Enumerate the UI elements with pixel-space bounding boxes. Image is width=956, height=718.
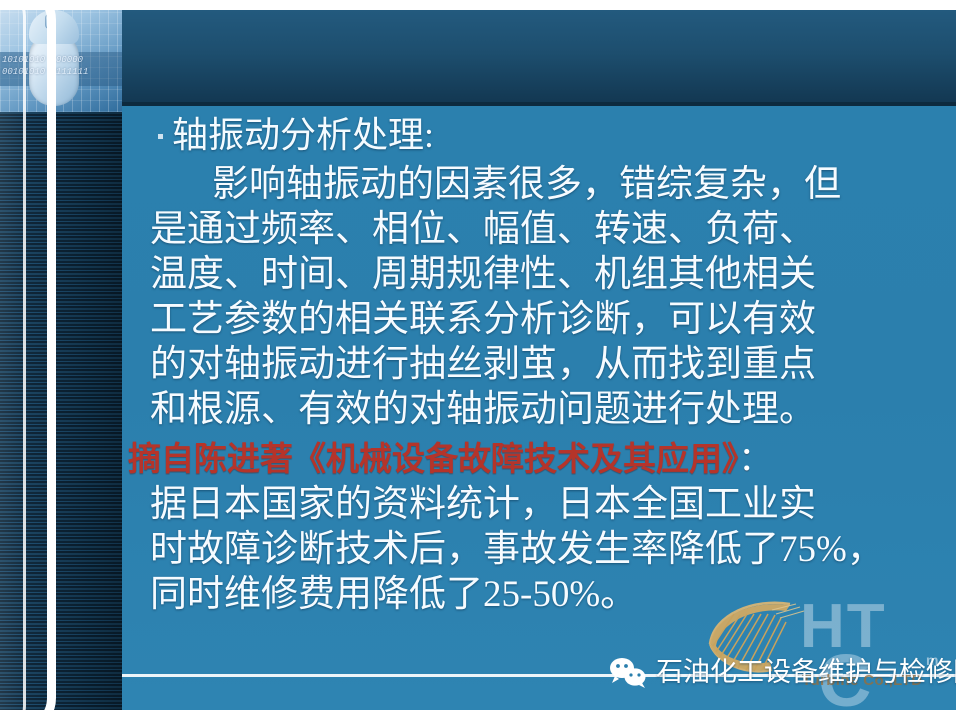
sidebar-stripes — [0, 112, 122, 718]
paragraph-1-line-3: 温度、时间、周期规律性、机组其他相关 — [150, 252, 956, 297]
citation-line: 摘自陈进著《机械设备故障技术及其应用》： — [128, 438, 956, 482]
wechat-icon — [608, 656, 648, 688]
header-top-white-rule — [120, 0, 956, 10]
paragraph-1-line-5: 的对轴振动进行抽丝剥茧，从而找到重点 — [150, 342, 956, 387]
citation-text: 摘自陈进著《机械设备故障技术及其应用》 — [128, 442, 739, 478]
sidebar-photo: 10101010 100000 00101010 0111111 — [0, 0, 122, 112]
paragraph-text: 工艺参数的相关联系分析诊断，可以有效 — [150, 299, 816, 340]
paragraph-2-line-1: 据日本国家的资料统计，日本全国工业实 — [150, 482, 956, 527]
paragraph-text: 时故障诊断技术后，事故发生率降低了75%， — [150, 529, 884, 570]
paragraph-1-line-1: 影响轴振动的因素很多，错综复杂，但 — [150, 162, 956, 207]
slide-heading: 轴振动分析处理: — [150, 112, 956, 158]
watermark-text: 石油化工设备维护与检修网 — [656, 656, 956, 688]
sidebar-decoration: 10101010 100000 00101010 0111111 — [0, 0, 122, 718]
bullet-icon — [158, 134, 163, 139]
presentation-slide: 10101010 100000 00101010 0111111 轴振动分析处理… — [0, 0, 956, 718]
paragraph-2-line-2: 时故障诊断技术后，事故发生率降低了75%， — [150, 527, 956, 572]
paragraph-1-line-6: 和根源、有效的对轴振动问题进行处理。 — [150, 387, 956, 432]
watermark: 石油化工设备维护与检修网 — [608, 652, 956, 692]
paragraph-text: 和根源、有效的对轴振动问题进行处理。 — [150, 389, 816, 430]
sidebar-sheen — [0, 112, 122, 718]
binary-text-line-1: 10101010 100000 — [2, 54, 120, 66]
paragraph-text: 是通过频率、相位、幅值、转速、负荷、 — [150, 209, 816, 250]
paragraph-text: 温度、时间、周期规律性、机组其他相关 — [150, 254, 816, 295]
slide-content: 轴振动分析处理: 影响轴振动的因素很多，错综复杂，但 是通过频率、相位、幅值、转… — [150, 112, 956, 622]
paragraph-1-line-2: 是通过频率、相位、幅值、转速、负荷、 — [150, 207, 956, 252]
citation-colon: ： — [739, 442, 772, 478]
paragraph-1-line-4: 工艺参数的相关联系分析诊断，可以有效 — [150, 297, 956, 342]
binary-text-line-2: 00101010 0111111 — [2, 66, 120, 78]
paragraph-text: 的对轴振动进行抽丝剥茧，从而找到重点 — [150, 344, 816, 385]
paragraph-text: 据日本国家的资料统计，日本全国工业实 — [150, 484, 816, 525]
frame-top-white — [0, 0, 126, 10]
paragraph-text: 影响轴振动的因素很多，错综复杂，但 — [212, 164, 841, 205]
paragraph-text: 同时维修费用降低了25-50%。 — [150, 574, 637, 615]
slide-heading-text: 轴振动分析处理: — [172, 115, 434, 155]
slide-header-band — [120, 10, 956, 106]
